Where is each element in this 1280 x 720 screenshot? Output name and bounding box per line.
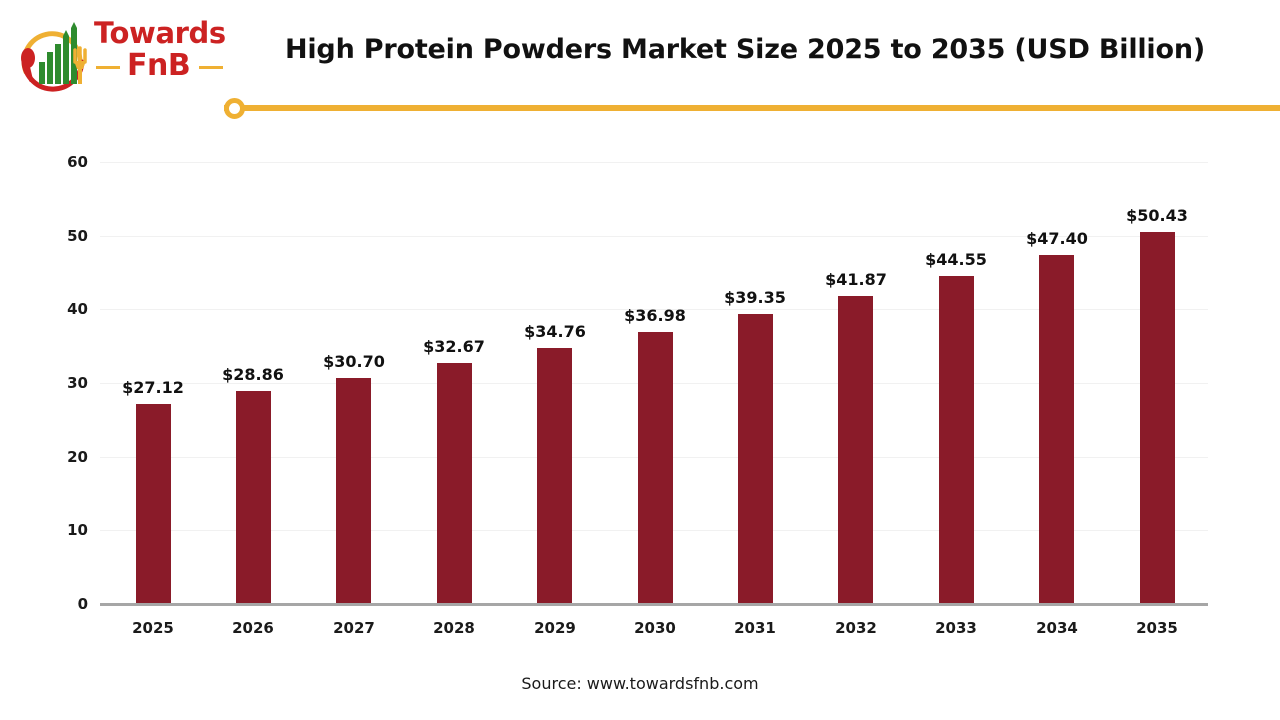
- x-tick-label-2025: 2025: [98, 619, 208, 637]
- y-tick-label: 30: [40, 374, 88, 392]
- bar-2028[interactable]: [437, 363, 472, 604]
- bar-2031[interactable]: [738, 314, 773, 604]
- x-tick-label-2029: 2029: [500, 619, 610, 637]
- x-tick-label-2026: 2026: [198, 619, 308, 637]
- x-tick-label-2027: 2027: [299, 619, 409, 637]
- bar-value-label: $28.86: [198, 365, 308, 384]
- bar-value-label: $41.87: [801, 270, 911, 289]
- x-tick-label-2031: 2031: [700, 619, 810, 637]
- y-tick-label: 10: [40, 521, 88, 539]
- source-note: Source: www.towardsfnb.com: [0, 674, 1280, 693]
- y-tick-label: 50: [40, 227, 88, 245]
- x-tick-label-2033: 2033: [901, 619, 1011, 637]
- x-tick-label-2034: 2034: [1002, 619, 1112, 637]
- bar-value-label: $39.35: [700, 288, 810, 307]
- bar-value-label: $34.76: [500, 322, 610, 341]
- bar-value-label: $44.55: [901, 250, 1011, 269]
- bar-2029[interactable]: [537, 348, 572, 604]
- x-tick-label-2035: 2035: [1102, 619, 1212, 637]
- x-tick-label-2032: 2032: [801, 619, 911, 637]
- bar-value-label: $47.40: [1002, 229, 1112, 248]
- bar-value-label: $36.98: [600, 306, 710, 325]
- bar-2033[interactable]: [939, 276, 974, 604]
- bar-value-label: $30.70: [299, 352, 409, 371]
- gridline: [100, 162, 1208, 163]
- bar-2032[interactable]: [838, 296, 873, 604]
- x-tick-label-2030: 2030: [600, 619, 710, 637]
- bar-2025[interactable]: [136, 404, 171, 604]
- bar-value-label: $27.12: [98, 378, 208, 397]
- y-tick-label: 40: [40, 300, 88, 318]
- y-tick-label: 60: [40, 153, 88, 171]
- bar-value-label: $32.67: [399, 337, 509, 356]
- bar-2035[interactable]: [1140, 232, 1175, 604]
- x-tick-label-2028: 2028: [399, 619, 509, 637]
- bar-value-label: $50.43: [1102, 206, 1212, 225]
- bar-2034[interactable]: [1039, 255, 1074, 604]
- bar-2027[interactable]: [336, 378, 371, 604]
- bar-chart: 0102030405060 $27.12$28.86$30.70$32.67$3…: [0, 0, 1280, 720]
- y-tick-label: 20: [40, 448, 88, 466]
- bar-2030[interactable]: [638, 332, 673, 604]
- y-tick-label: 0: [40, 595, 88, 613]
- bar-2026[interactable]: [236, 391, 271, 604]
- axis-baseline: [100, 603, 1208, 606]
